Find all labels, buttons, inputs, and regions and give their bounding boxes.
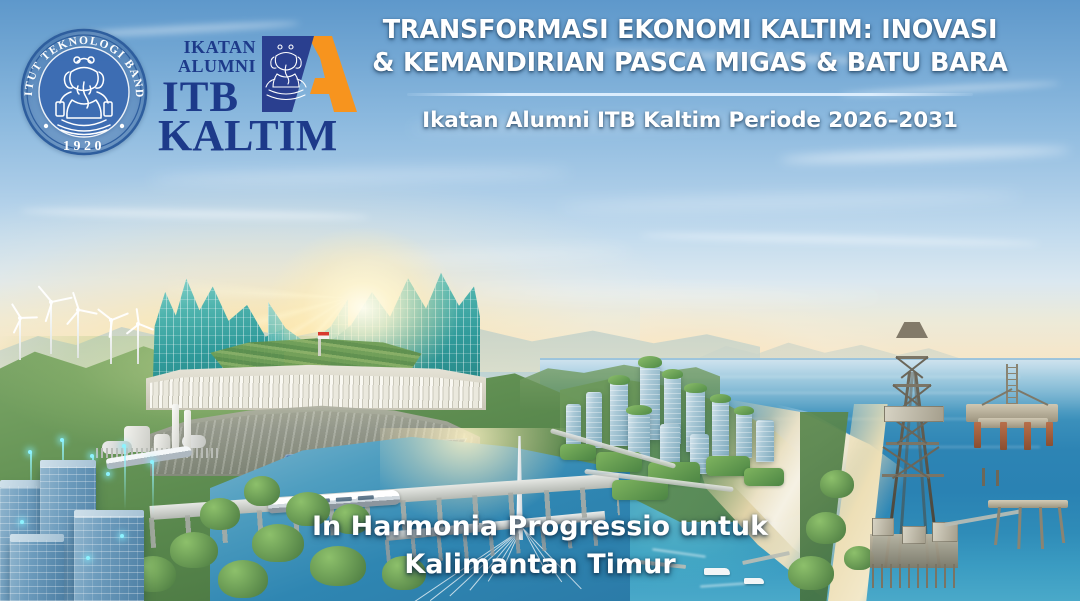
data-node <box>106 472 110 476</box>
green-podium <box>744 468 784 486</box>
data-beam <box>124 446 126 510</box>
tree <box>820 470 854 498</box>
title-divider <box>407 93 973 96</box>
wind-turbine <box>64 308 92 358</box>
rooftop-garden <box>626 405 652 415</box>
rooftop-garden <box>684 383 707 393</box>
chimney-stack <box>172 404 179 450</box>
rooftop-garden <box>734 406 754 415</box>
page-title-line2: & KEMANDIRIAN PASCA MIGAS & BATU BARA <box>340 47 1040 80</box>
ia-logo-line1: IKATAN <box>164 38 256 57</box>
wind-turbine <box>98 318 124 364</box>
title-block: TRANSFORMASI EKONOMI KALTIM: INOVASI & K… <box>340 14 1040 133</box>
rig-leg <box>1046 422 1053 446</box>
data-node <box>150 460 154 464</box>
tower-roof <box>40 460 96 468</box>
rooftop-garden <box>638 356 662 368</box>
derrick-brace <box>893 384 931 387</box>
wind-turbine <box>8 316 32 360</box>
wind-turbine <box>36 300 66 354</box>
green-city-tower <box>736 410 752 458</box>
seal-year: 1920 <box>63 139 105 154</box>
rig-derrick <box>1006 364 1018 404</box>
industrial-plant <box>96 386 222 460</box>
tagline-line2: Kalimantan Timur <box>0 546 1080 584</box>
flagpole <box>318 332 321 356</box>
data-node <box>28 450 32 454</box>
derrick-brace <box>882 474 944 477</box>
ia-kaltim-logo: IKATAN ALUMNI ITB KALTIM <box>162 30 358 162</box>
tree <box>244 476 280 506</box>
mooring-pile <box>982 468 985 486</box>
derrick-platform <box>884 406 944 422</box>
monogram-i <box>262 36 314 112</box>
tagline-line1: In Harmonia Progressio untuk <box>0 508 1080 546</box>
offshore-platform <box>962 364 1060 450</box>
ia-logo-kaltim: KALTIM <box>158 114 358 158</box>
rig-leg <box>974 422 981 448</box>
data-node <box>90 454 94 458</box>
rooftop-garden <box>662 369 683 379</box>
rig-hull <box>978 418 1048 428</box>
derrick-crown <box>896 322 928 338</box>
rooftop-garden <box>710 394 731 403</box>
wind-turbine <box>126 322 150 364</box>
data-node <box>122 444 126 448</box>
chimney-stack <box>184 410 191 450</box>
data-node <box>60 438 64 442</box>
green-city-tower <box>712 398 729 456</box>
green-podium <box>560 444 596 460</box>
green-city-tower <box>756 420 774 462</box>
green-city-tower <box>610 380 628 446</box>
page-title-line1: TRANSFORMASI EKONOMI KALTIM: INOVASI <box>340 14 1040 47</box>
rig-leg <box>1024 422 1031 450</box>
derrick-brace <box>886 442 939 445</box>
itb-seal-logo: INSTITUT TEKNOLOGI BANDUNG <box>14 22 154 162</box>
rig-leg <box>1000 422 1007 450</box>
rooftop-garden <box>608 375 630 385</box>
presentation-slide: INSTITUT TEKNOLOGI BANDUNG <box>0 0 1080 601</box>
page-subtitle: Ikatan Alumni ITB Kaltim Periode 2026–20… <box>340 108 1040 133</box>
slide-header: INSTITUT TEKNOLOGI BANDUNG <box>0 0 1080 165</box>
tagline-block: In Harmonia Progressio untuk Kalimantan … <box>0 508 1080 585</box>
mooring-pile <box>996 470 999 486</box>
